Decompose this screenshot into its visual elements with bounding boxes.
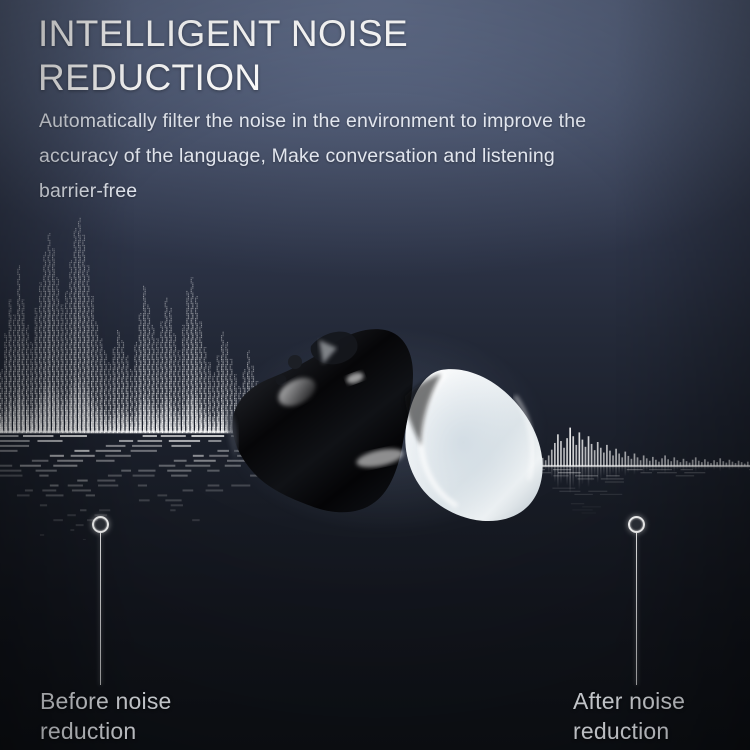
product-banner: INTELLIGENT NOISE REDUCTION Automaticall… bbox=[0, 0, 750, 750]
product-button-secondary bbox=[276, 375, 287, 386]
hearing-aid-product-image bbox=[215, 300, 575, 550]
after-marker-dot bbox=[628, 516, 645, 533]
page-title: INTELLIGENT NOISE REDUCTION bbox=[38, 12, 638, 100]
page-subtitle: Automatically filter the noise in the en… bbox=[39, 104, 719, 209]
product-button bbox=[288, 355, 302, 369]
after-leader-line bbox=[636, 533, 638, 685]
before-leader-line bbox=[100, 533, 102, 685]
before-marker-dot bbox=[92, 516, 109, 533]
caption-after-noise-reduction: After noise reduction bbox=[573, 686, 685, 746]
caption-before-noise-reduction: Before noise reduction bbox=[40, 686, 172, 746]
